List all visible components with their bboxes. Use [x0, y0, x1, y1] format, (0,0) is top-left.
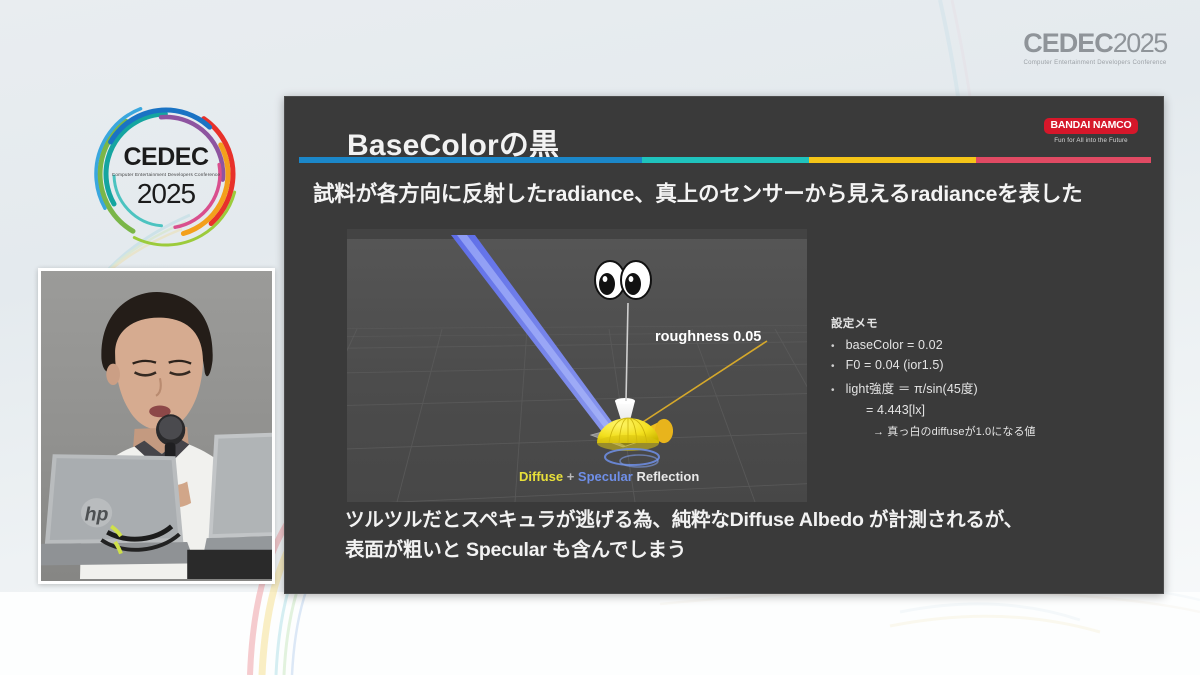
bandai-namco-tagline: Fun for All into the Future — [1054, 137, 1128, 144]
cedec-circular-badge: CEDEC Computer Entertainment Developers … — [92, 100, 240, 248]
divider-segment-pink — [976, 157, 1151, 163]
divider-segment-yellow — [809, 157, 976, 163]
divider-segment-teal — [642, 157, 810, 163]
slide-caption: ツルツルだとスペキュラが逃げる為、純粋なDiffuse Albedo が計測され… — [345, 505, 1145, 565]
bullet-icon: • — [831, 361, 835, 372]
cedec-logo-main-text: CEDEC — [1023, 30, 1113, 57]
settings-memo: 設定メモ • baseColor = 0.02 • F0 = 0.04 (ior… — [831, 315, 1131, 439]
cedec-logo-wordmark: CEDEC2025 — [1023, 30, 1167, 57]
3d-render-viewport: roughness 0.05 Diffuse + Specular Reflec… — [347, 229, 807, 502]
speaker-figure: hp — [41, 271, 272, 579]
cedec-badge-main: CEDEC — [123, 145, 208, 170]
bullet-icon: • — [831, 341, 835, 352]
memo-item-text: F0 = 0.04 (ior1.5) — [846, 358, 944, 372]
memo-title: 設定メモ — [831, 315, 1131, 331]
bullet-icon: • — [831, 385, 835, 396]
3d-scene-graphic — [347, 229, 807, 502]
cedec-logo-topright: CEDEC2025 Computer Entertainment Develop… — [1015, 26, 1175, 70]
svg-text:hp: hp — [85, 504, 109, 526]
cedec-logo-year-text: 2025 — [1113, 30, 1167, 57]
memo-sub-line: = 4.443[lx] — [866, 403, 1131, 417]
cedec-badge-subtitle: Computer Entertainment Developers Confer… — [112, 172, 220, 177]
cedec-logo-subtitle: Computer Entertainment Developers Confer… — [1023, 59, 1166, 66]
memo-item-text: baseColor = 0.02 — [846, 338, 943, 352]
speaker-webcam-panel: hp — [38, 268, 275, 584]
stream-stage: CEDEC2025 Computer Entertainment Develop… — [0, 0, 1200, 675]
memo-item: • light強度 ＝ π/sin(45度) — [831, 378, 1131, 397]
memo-item: • baseColor = 0.02 — [831, 338, 1131, 352]
memo-item: • F0 = 0.04 (ior1.5) — [831, 358, 1131, 372]
presentation-slide: BaseColorの黒 BANDAI NAMCO Fun for All int… — [284, 96, 1164, 594]
memo-arrow-line: → 真っ白のdiffuseが1.0になる値 — [873, 423, 1131, 439]
caption-line: ツルツルだとスペキュラが逃げる為、純粋なDiffuse Albedo が計測され… — [345, 505, 1145, 535]
memo-item-text: light強度 ＝ π/sin(45度) — [846, 378, 978, 397]
caption-line: 表面が粗いと Specular も含んでしまう — [345, 535, 1145, 565]
divider-segment-blue — [299, 157, 642, 163]
bandai-namco-name: BANDAI NAMCO — [1044, 118, 1137, 134]
bandai-namco-logo: BANDAI NAMCO Fun for All into the Future — [1037, 118, 1145, 144]
cedec-badge-year: 2025 — [137, 180, 195, 208]
slide-subtitle: 試料が各方向に反射したradiance、真上のセンサーから見えるradiance… — [313, 177, 1143, 208]
slide-divider-bar — [299, 157, 1151, 163]
cedec-badge-text: CEDEC Computer Entertainment Developers … — [92, 100, 240, 248]
